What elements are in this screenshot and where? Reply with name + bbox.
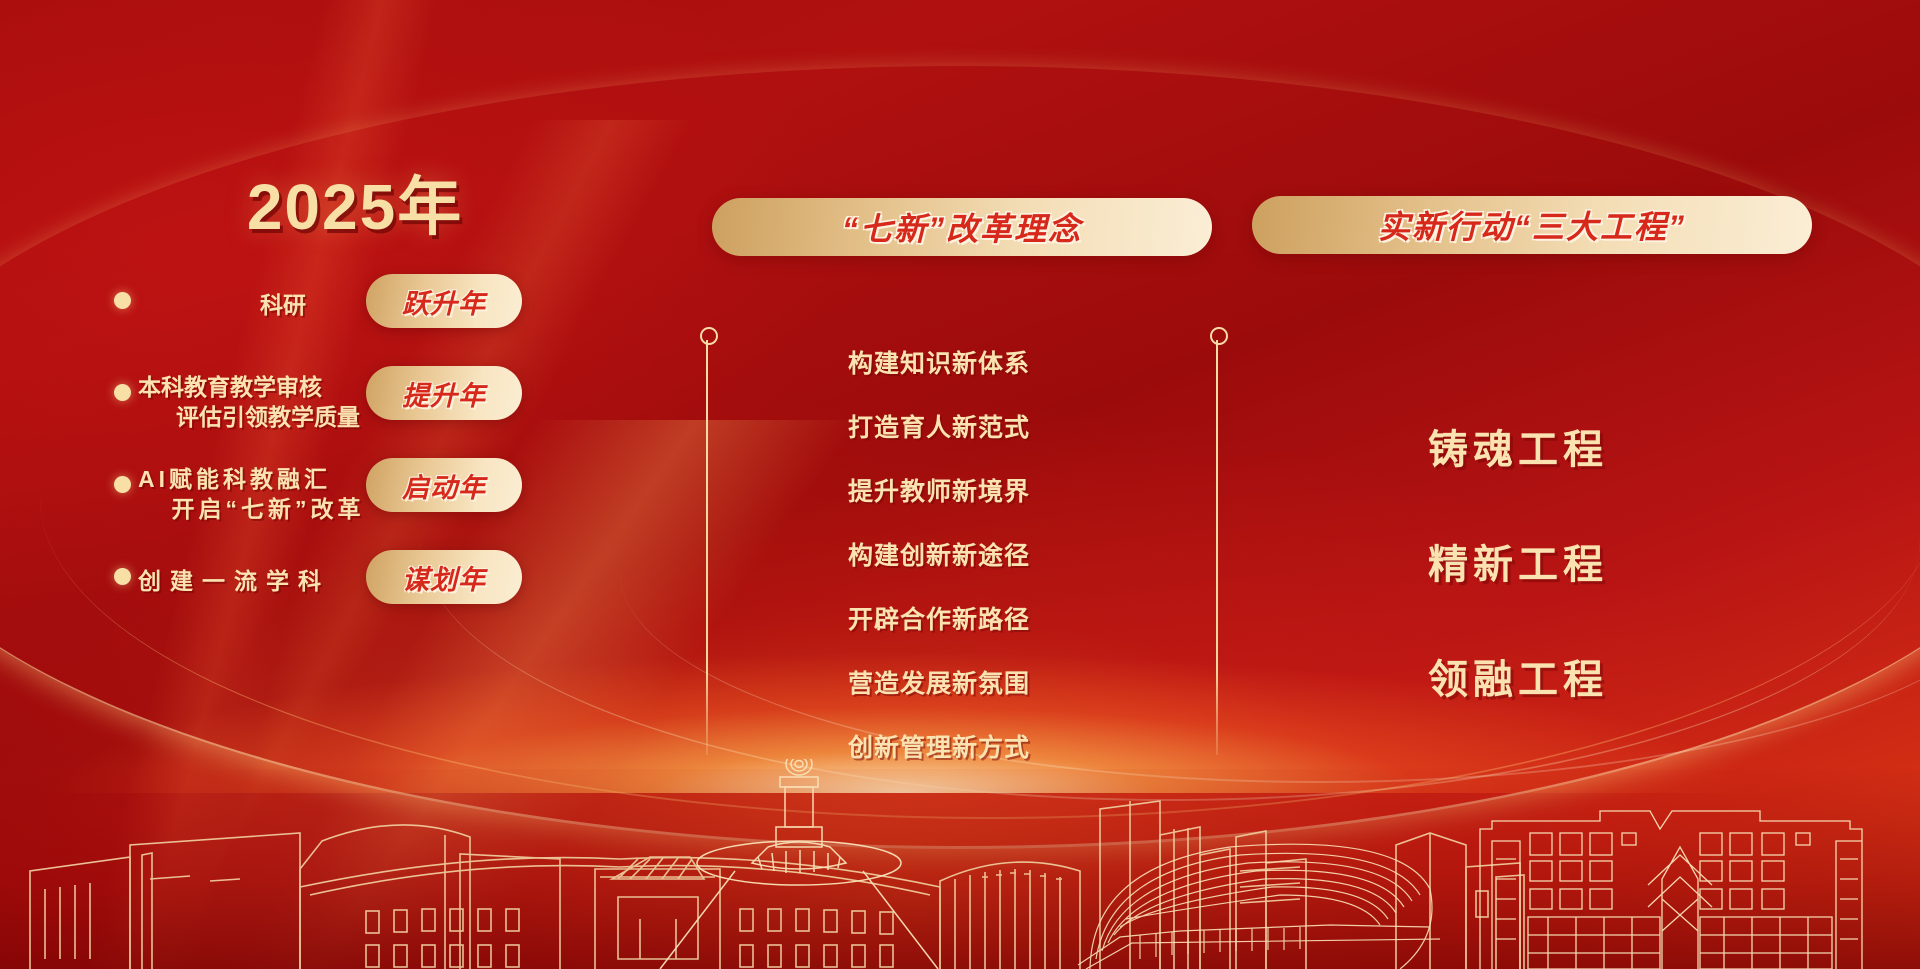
list-item-line1: 本科教育教学审核 [138,374,322,400]
poster-canvas: 2025年 科研 跃升年 本科教育教学审核 评估引领教学质量 提升年 [0,0,1920,969]
right-column-header[interactable]: 实新行动“三大工程” [1252,196,1812,254]
bullet-dot-icon [114,476,131,493]
list-item[interactable]: 创建一流学科 谋划年 [108,554,528,646]
badge-year-tag[interactable]: 谋划年 [366,550,522,604]
list-item[interactable]: 精新工程 [1428,503,1688,618]
badge-year-tag[interactable]: 提升年 [366,366,522,420]
right-header-label: 实新行动“三大工程” [1378,202,1686,248]
list-item[interactable]: 铸魂工程 [1428,388,1688,503]
badge-label: 跃升年 [366,274,522,328]
list-item-label: 科研 [168,290,398,320]
list-item-label: 创建一流学科 [138,566,398,596]
center-header-label: “七新”改革理念 [842,204,1082,250]
list-item[interactable]: 打造育人新范式 [848,394,1078,458]
center-column-list: 构建知识新体系 打造育人新范式 提升教师新境界 构建创新新途径 开辟合作新路径 … [848,330,1078,778]
badge-year-tag[interactable]: 跃升年 [366,274,522,328]
list-item[interactable]: 构建创新新途径 [848,522,1078,586]
pin-stem-line [1216,340,1218,755]
list-item[interactable]: 提升教师新境界 [848,458,1078,522]
bullet-dot-icon [114,568,131,585]
list-item[interactable]: 构建知识新体系 [848,330,1078,394]
list-item[interactable]: 营造发展新氛围 [848,650,1078,714]
list-item[interactable]: 开辟合作新路径 [848,586,1078,650]
list-item-line2: 评估引领教学质量 [138,402,398,432]
list-item-line1: AI赋能科教融汇 [138,466,331,492]
list-item[interactable]: 创新管理新方式 [848,714,1078,778]
list-item-line2: 开启“七新”改革 [138,494,398,524]
page-title: 2025年 [190,156,520,248]
list-item-label: 本科教育教学审核 评估引领教学质量 [138,372,398,432]
list-item-label: AI赋能科教融汇 开启“七新”改革 [138,464,398,524]
center-column-header[interactable]: “七新”改革理念 [712,198,1212,256]
left-column-list: 科研 跃升年 本科教育教学审核 评估引领教学质量 提升年 AI赋能科教融汇 [108,278,528,646]
list-item[interactable]: 领融工程 [1428,618,1688,733]
pin-head-circle-icon [700,327,718,345]
list-item[interactable]: 科研 跃升年 [108,278,528,370]
badge-label: 提升年 [366,366,522,420]
pin-stem-line [706,340,708,755]
list-item[interactable]: 本科教育教学审核 评估引领教学质量 提升年 [108,370,528,462]
bullet-dot-icon [114,292,131,309]
badge-label: 启动年 [366,458,522,512]
badge-year-tag[interactable]: 启动年 [366,458,522,512]
list-item[interactable]: AI赋能科教融汇 开启“七新”改革 启动年 [108,462,528,554]
bullet-dot-icon [114,384,131,401]
badge-label: 谋划年 [366,550,522,604]
pin-head-circle-icon [1210,327,1228,345]
right-column-list: 铸魂工程 精新工程 领融工程 [1428,388,1688,733]
